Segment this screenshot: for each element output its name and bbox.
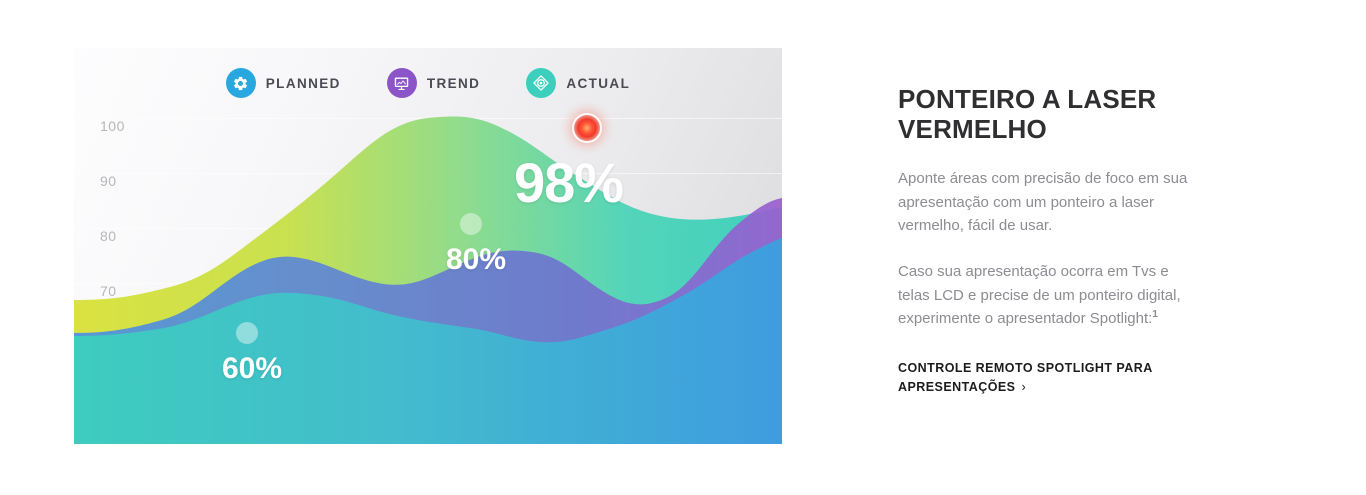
chart-panel: 100 90 80 70 60 50: [74, 48, 782, 444]
spotlight-remote-link[interactable]: CONTROLE REMOTO SPOTLIGHT PARA APRESENTA…: [898, 359, 1198, 398]
chart-legend: PLANNED TREND: [74, 68, 782, 98]
info-paragraph-2-text: Caso sua apresentação ocorra em Tvs e te…: [898, 263, 1181, 327]
laser-pointer-marker[interactable]: [572, 113, 602, 143]
data-label-80: 80%: [446, 245, 506, 275]
info-paragraph-1: Aponte áreas com precisão de foco em sua…: [898, 167, 1198, 238]
page-root: 100 90 80 70 60 50: [0, 0, 1366, 495]
data-point-marker-80[interactable]: [460, 213, 482, 235]
legend-label-planned: PLANNED: [266, 76, 341, 91]
monitor-icon: [387, 68, 417, 98]
gear-icon: [226, 68, 256, 98]
data-label-60: 60%: [222, 354, 282, 384]
area-chart-svg: [74, 48, 782, 444]
target-icon: [526, 68, 556, 98]
legend-item-planned[interactable]: PLANNED: [226, 68, 341, 98]
legend-item-actual[interactable]: ACTUAL: [526, 68, 630, 98]
data-label-98: 98%: [514, 155, 623, 211]
page-title: PONTEIRO A LASER VERMELHO: [898, 84, 1198, 145]
footnote-marker: 1: [1152, 309, 1158, 320]
chevron-right-icon: ›: [1015, 380, 1026, 394]
legend-label-actual: ACTUAL: [566, 76, 630, 91]
legend-item-trend[interactable]: TREND: [387, 68, 481, 98]
data-point-marker-60[interactable]: [236, 322, 258, 344]
info-paragraph-2: Caso sua apresentação ocorra em Tvs e te…: [898, 260, 1198, 331]
info-column: PONTEIRO A LASER VERMELHO Aponte áreas c…: [898, 84, 1198, 398]
legend-label-trend: TREND: [427, 76, 481, 91]
